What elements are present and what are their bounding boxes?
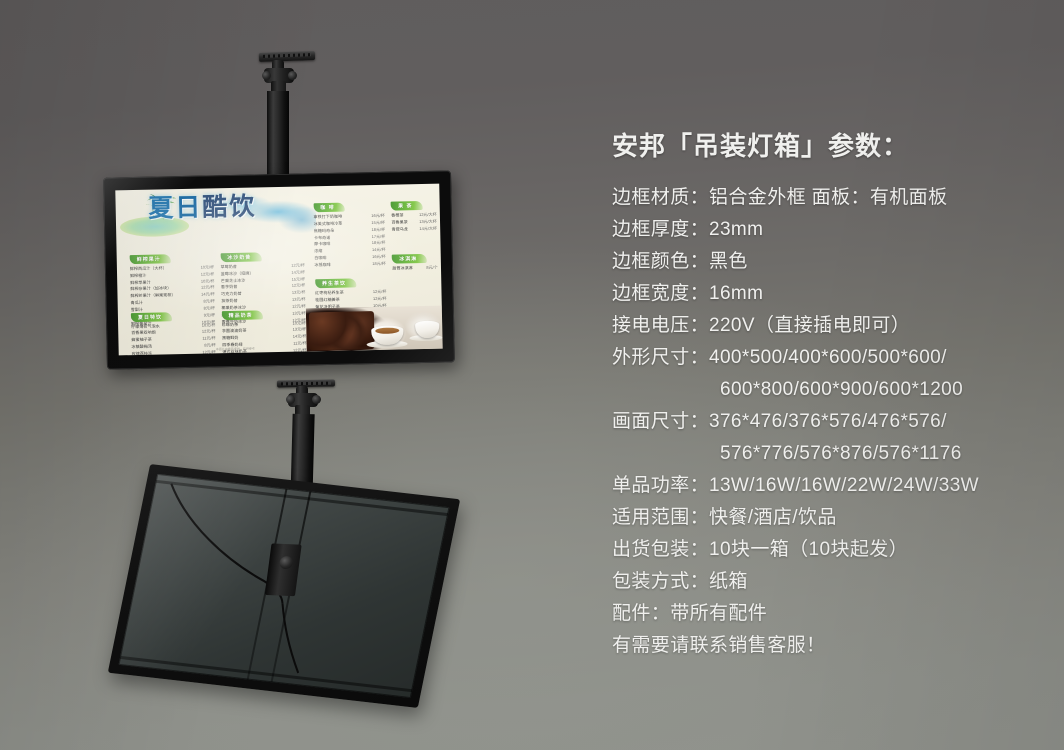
- spec-line: 边框宽度：16mm: [612, 278, 1042, 310]
- spec-line-list: 边框材质：铝合金外框 面板：有机面板边框厚度：23mm边框颜色：黑色边框宽度：1…: [612, 182, 1042, 662]
- section-title: 冰沙奶昔: [220, 252, 261, 262]
- spec-line: 适用范围：快餐/酒店/饮品: [612, 502, 1042, 534]
- mount-bolt-right-upper: [288, 71, 297, 80]
- spec-line: 576*776/576*876/576*1176: [612, 438, 1042, 470]
- lower-mount-plate-holes: [281, 382, 331, 386]
- headline-char-3: 酷饮: [202, 193, 257, 222]
- section-rows: 甜筒冰淇淋8元/个: [392, 264, 437, 272]
- ceiling-mount-plate: [259, 51, 315, 62]
- menu-item-price: 8元/个: [420, 264, 437, 271]
- menu-item-name: 青提乌龙: [391, 226, 408, 233]
- menu-item-price: 18元/杯: [366, 261, 386, 268]
- menu-item-price: 12元/杯: [287, 347, 307, 354]
- product-photo-scene: 夏日酷饮 鲜榨果汁 鲜榨西瓜汁（大杯）10元/杯鲜榨橙汁12元/杯鲜榨苹果汁10…: [0, 0, 1064, 750]
- menu-row: 甜筒冰淇淋8元/个: [392, 264, 437, 272]
- spec-line: 出货包装：10块一箱（10块起发）: [612, 534, 1042, 566]
- poster-header-art: 夏日酷饮: [115, 186, 320, 246]
- section-rows: 拿铁打下奶咖啡16元/杯冰美式咖啡冷萃15元/杯焦糖玛奇朵18元/杯卡布奇诺17…: [313, 213, 385, 269]
- mount-bolt-right-lower: [312, 395, 321, 404]
- spec-title: 安邦「吊装灯箱」参数：: [612, 126, 1042, 163]
- section-rows: 香橙茶12元/大杯百香果茶13元/大杯青提乌龙14元/大杯: [391, 212, 437, 234]
- section-title: 精品奶茶: [222, 310, 263, 320]
- poster-section-right-col1: 咖 啡 拿铁打下奶咖啡16元/杯冰美式咖啡冷萃15元/杯焦糖玛奇朵18元/杯卡布…: [313, 195, 386, 269]
- menu-item-price: 12元/杯: [196, 349, 216, 355]
- menu-item-name: 鲜榨西瓜汁（大杯）: [130, 265, 167, 273]
- spec-line: 边框颜色：黑色: [612, 246, 1042, 278]
- menu-item-price: 14元/大杯: [413, 225, 437, 232]
- section-title: 养生茶饮: [315, 278, 356, 288]
- poster-credit-text: 本图片由商家提供，仅供参考: [216, 347, 255, 352]
- mount-bolt-left-lower: [286, 395, 295, 404]
- spec-line: 画面尺寸：376*476/376*576/476*576/: [612, 406, 1042, 438]
- poster-headline: 夏日酷饮: [148, 195, 257, 222]
- headline-char-1: 夏: [148, 194, 176, 223]
- coffee-beans-image: [309, 311, 375, 350]
- poster-section-right-col4: 冰淇淋 甜筒冰淇淋8元/个: [392, 246, 438, 272]
- mount-bolt-left-upper: [262, 71, 271, 80]
- menu-item-name: 冰摇咖啡: [314, 262, 331, 269]
- menu-row: 玫瑰荔枝冻12元/杯: [132, 349, 216, 355]
- section-title: 果 茶: [391, 201, 423, 211]
- specification-panel: 安邦「吊装灯箱」参数： 边框材质：铝合金外框 面板：有机面板边框厚度：23mm边…: [612, 126, 1042, 662]
- section-rows: 柠檬薄荷气泡水10元/杯百香果双响炮12元/杯蜂蜜柚子茶11元/杯冰镇酸梅汤8元…: [131, 322, 216, 356]
- menu-row: 青提乌龙14元/大杯: [391, 225, 436, 233]
- spec-line: 边框材质：铝合金外框 面板：有机面板: [612, 182, 1042, 214]
- hanging-lightbox-front[interactable]: 夏日酷饮 鲜榨果汁 鲜榨西瓜汁（大杯）10元/杯鲜榨橙汁12元/杯鲜榨苹果汁10…: [103, 170, 455, 369]
- menu-item-name: 玫瑰荔枝冻: [132, 351, 153, 356]
- spec-line: 包装方式：纸箱: [612, 566, 1042, 598]
- section-title: 鲜榨果汁: [130, 254, 171, 264]
- spec-line: 单品功率：13W/16W/16W/22W/24W/33W: [612, 470, 1042, 502]
- poster-section-right-col2: 养生茶饮 红枣枸杞养生茶12元/杯桂圆红糖姜茶12元/杯菊花决明子茶10元/杯: [315, 271, 387, 311]
- poster-section-left-col3: 夏日特饮 柠檬薄荷气泡水10元/杯百香果双响炮12元/杯蜂蜜柚子茶11元/杯冰镇…: [131, 304, 216, 356]
- mount-plate-holes: [263, 53, 311, 58]
- menu-poster: 夏日酷饮 鲜榨果汁 鲜榨西瓜汁（大杯）10元/杯鲜榨橙汁12元/杯鲜榨苹果汁10…: [115, 184, 442, 356]
- lightbox-rear-panel-assembly[interactable]: [108, 464, 460, 708]
- spec-line: 外形尺寸：400*500/400*600/500*600/: [612, 342, 1042, 374]
- spec-line: 600*800/600*900/600*1200: [612, 374, 1042, 406]
- section-title: 夏日特饮: [131, 312, 172, 322]
- rear-panel-rail-bottom: [120, 656, 413, 692]
- section-title: 冰淇淋: [392, 254, 427, 264]
- menu-row: 冰摇咖啡18元/杯: [314, 261, 385, 269]
- menu-item-name: 甜筒冰淇淋: [392, 265, 413, 272]
- spec-line: 接电电压：220V（直接插电即可）: [612, 310, 1042, 342]
- spec-line: 有需要请联系销售客服！: [612, 630, 1042, 662]
- coffee-crema: [375, 327, 399, 334]
- headline-char-2: 日: [175, 194, 203, 223]
- poster-section-right-col3: 果 茶 香橙茶12元/大杯百香果茶13元/大杯青提乌龙14元/大杯: [391, 194, 437, 234]
- spec-line: 边框厚度：23mm: [612, 214, 1042, 246]
- section-title: 咖 啡: [313, 203, 345, 213]
- spec-line: 配件：带所有配件: [612, 598, 1042, 630]
- coffee-photo: [306, 306, 443, 352]
- mount-pole-upper: [267, 91, 289, 183]
